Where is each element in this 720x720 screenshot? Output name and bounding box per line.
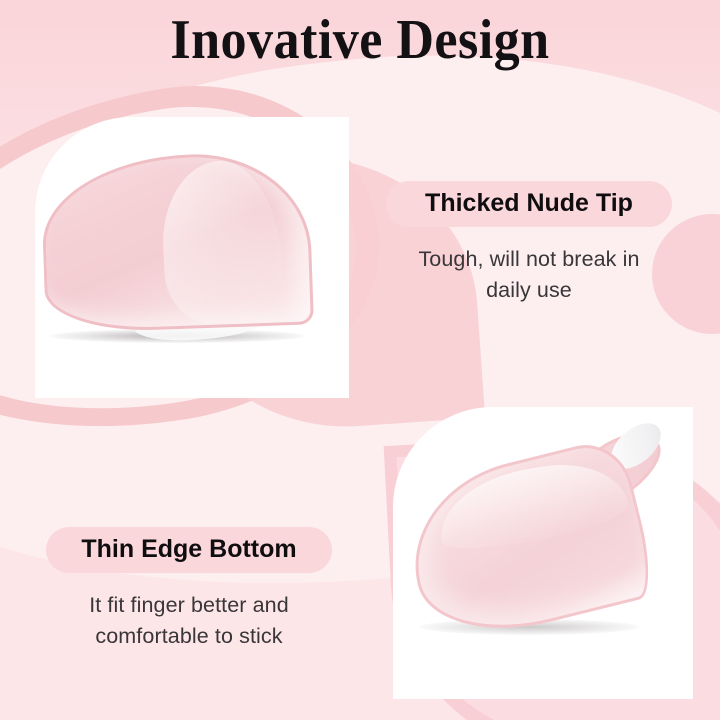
feature-description-line: comfortable to stick [95, 624, 282, 648]
product-image-panel-bottom [393, 407, 693, 699]
feature-description-line: daily use [486, 278, 572, 302]
product-image-panel-top [35, 117, 349, 398]
page-title: Inovative Design [25, 8, 695, 72]
feature-description-line: It fit finger better and [89, 593, 289, 617]
feature-description-line: Tough, will not break in [418, 247, 639, 271]
nail-tip-body [395, 435, 660, 650]
feature-badge-thicked-nude-tip: Thicked Nude Tip [386, 181, 672, 227]
nail-tip-curve-view-image [393, 407, 693, 699]
feature-callout-thin-edge-bottom: Thin Edge Bottom It fit finger better an… [46, 527, 332, 652]
feature-description-thin-edge-bottom: It fit finger better and comfortable to … [46, 590, 332, 652]
feature-badge-thin-edge-bottom: Thin Edge Bottom [46, 527, 332, 573]
feature-description-thicked-nude-tip: Tough, will not break in daily use [386, 244, 672, 306]
nail-tip-side-view-image [35, 117, 349, 398]
product-feature-poster: Inovative Design Thicked Nude Tip Tough,… [0, 0, 720, 720]
feature-callout-thicked-nude-tip: Thicked Nude Tip Tough, will not break i… [386, 181, 672, 306]
